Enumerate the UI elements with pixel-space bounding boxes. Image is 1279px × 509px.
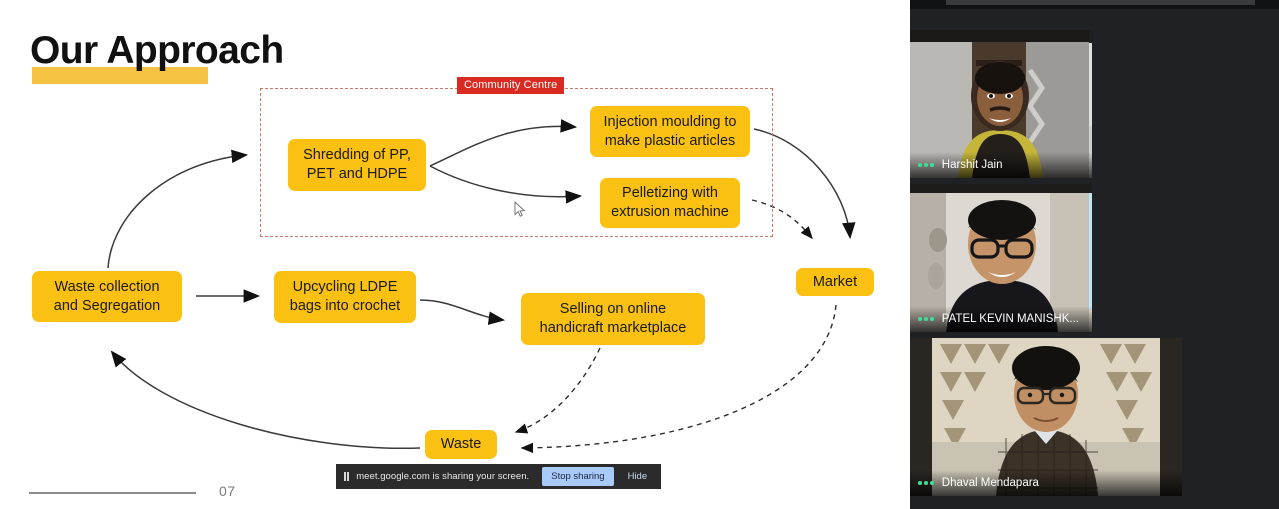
more-options-icon[interactable] xyxy=(918,317,934,321)
node-market[interactable]: Market xyxy=(796,268,874,296)
participant-name: Harshit Jain xyxy=(942,159,1003,171)
page-number: 07 xyxy=(219,483,236,499)
page-title: Our Approach xyxy=(30,31,284,70)
community-centre-label: Community Centre xyxy=(457,77,564,94)
participant-name: PATEL KEVIN MANISHK... xyxy=(942,313,1079,325)
node-pelletizing[interactable]: Pelletizing with extrusion machine xyxy=(600,178,740,228)
rail-top-strip xyxy=(910,0,1279,9)
node-upcycling-ldpe[interactable]: Upcycling LDPE bags into crochet xyxy=(274,271,416,323)
share-status-text: meet.google.com is sharing your screen. xyxy=(356,471,529,482)
node-selling-online[interactable]: Selling on online handicraft marketplace xyxy=(521,293,705,345)
participant-tile-dhaval-mendapara[interactable]: Dhaval Mendapara xyxy=(910,338,1182,496)
footer-rule xyxy=(29,492,196,494)
participant-tile-patel-kevin[interactable]: PATEL KEVIN MANISHK... xyxy=(910,184,1089,332)
participant-tile-harshit-jain[interactable]: Harshit Jain xyxy=(910,30,1089,178)
more-options-icon[interactable] xyxy=(918,481,934,485)
screen-share-bar: meet.google.com is sharing your screen. … xyxy=(336,464,661,489)
node-waste[interactable]: Waste xyxy=(425,430,497,459)
participant-name: Dhaval Mendapara xyxy=(942,477,1039,489)
node-waste-collection[interactable]: Waste collection and Segregation xyxy=(32,271,182,322)
participant-namebar: Dhaval Mendapara xyxy=(910,470,1182,496)
node-injection-moulding[interactable]: Injection moulding to make plastic artic… xyxy=(590,106,750,157)
mouse-cursor-icon xyxy=(514,201,526,218)
more-options-icon[interactable] xyxy=(918,163,934,167)
participant-namebar: PATEL KEVIN MANISHK... xyxy=(910,306,1089,332)
page-title-group: Our Approach xyxy=(30,31,284,70)
participant-rail: You xyxy=(910,0,1279,509)
meet-screenshare-window: Our Approach xyxy=(0,0,1279,509)
pause-icon[interactable] xyxy=(344,472,349,481)
shared-slide: Our Approach xyxy=(0,0,910,509)
participant-namebar: Harshit Jain xyxy=(910,152,1089,178)
hide-button[interactable]: Hide xyxy=(623,467,653,486)
node-shredding[interactable]: Shredding of PP, PET and HDPE xyxy=(288,139,426,191)
stop-sharing-button[interactable]: Stop sharing xyxy=(542,467,613,486)
